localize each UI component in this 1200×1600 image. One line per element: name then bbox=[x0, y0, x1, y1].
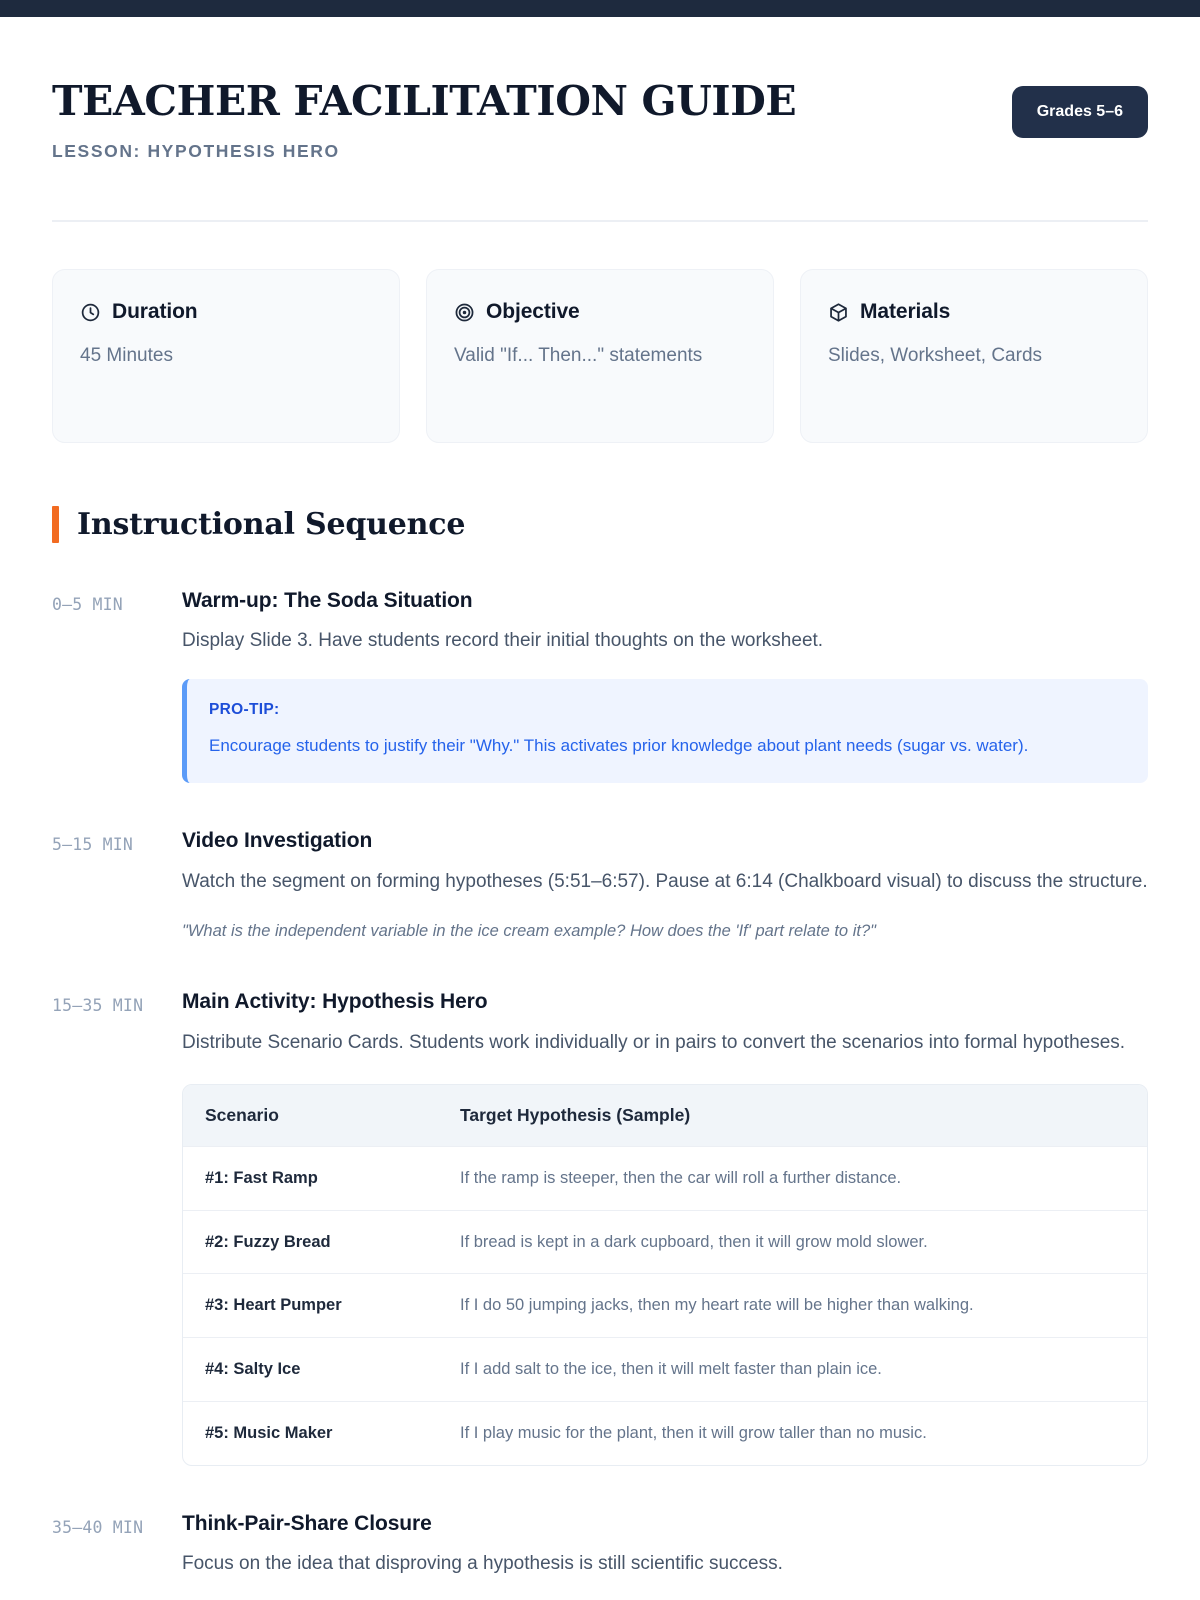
pro-tip-label: PRO-TIP: bbox=[209, 701, 1122, 719]
timeline-title: Think-Pair-Share Closure bbox=[182, 1510, 1148, 1537]
scenario-table: Scenario Target Hypothesis (Sample) #1: … bbox=[183, 1085, 1147, 1465]
info-card-objective-title: Objective bbox=[486, 300, 580, 324]
document-page: TEACHER FACILITATION GUIDE LESSON: HYPOT… bbox=[0, 17, 1200, 1579]
table-row: #2: Fuzzy Bread If bread is kept in a da… bbox=[183, 1210, 1147, 1274]
timeline-time-label: 0–5 MIN bbox=[52, 587, 182, 621]
timeline-description: Watch the segment on forming hypotheses … bbox=[182, 866, 1148, 897]
table-row: #4: Salty Ice If I add salt to the ice, … bbox=[183, 1338, 1147, 1402]
column-header-scenario: Scenario bbox=[183, 1085, 438, 1147]
cell-scenario: #3: Heart Pumper bbox=[183, 1274, 438, 1338]
timeline-time-label: 5–15 MIN bbox=[52, 827, 182, 861]
pro-tip-text: Encourage students to justify their "Why… bbox=[209, 732, 1122, 760]
timeline-item: 15–35 MIN Main Activity: Hypothesis Hero… bbox=[52, 988, 1148, 1465]
timeline-body: Warm-up: The Soda Situation Display Slid… bbox=[182, 587, 1148, 783]
package-icon bbox=[828, 302, 849, 323]
timeline-title: Video Investigation bbox=[182, 827, 1148, 854]
info-card-materials-title: Materials bbox=[860, 300, 950, 324]
page-subtitle: LESSON: HYPOTHESIS HERO bbox=[52, 141, 796, 162]
cell-hypothesis: If bread is kept in a dark cupboard, the… bbox=[438, 1210, 1147, 1274]
table-header-row: Scenario Target Hypothesis (Sample) bbox=[183, 1085, 1147, 1147]
timeline-description: Focus on the idea that disproving a hypo… bbox=[182, 1548, 1148, 1579]
timeline-title: Warm-up: The Soda Situation bbox=[182, 587, 1148, 614]
title-block: TEACHER FACILITATION GUIDE LESSON: HYPOT… bbox=[52, 71, 796, 162]
timeline-description: Distribute Scenario Cards. Students work… bbox=[182, 1027, 1148, 1058]
timeline-discussion-quote: "What is the independent variable in the… bbox=[182, 918, 1148, 944]
scenario-table-container: Scenario Target Hypothesis (Sample) #1: … bbox=[182, 1084, 1148, 1466]
cell-scenario: #4: Salty Ice bbox=[183, 1338, 438, 1402]
document-header: TEACHER FACILITATION GUIDE LESSON: HYPOT… bbox=[52, 17, 1148, 162]
timeline-item: 35–40 MIN Think-Pair-Share Closure Focus… bbox=[52, 1510, 1148, 1580]
cell-hypothesis: If the ramp is steeper, then the car wil… bbox=[438, 1146, 1147, 1210]
info-card-materials-head: Materials bbox=[828, 300, 1120, 324]
info-card-objective-value: Valid "If... Then..." statements bbox=[454, 341, 746, 370]
cell-hypothesis: If I add salt to the ice, then it will m… bbox=[438, 1338, 1147, 1402]
timeline-item: 5–15 MIN Video Investigation Watch the s… bbox=[52, 827, 1148, 944]
cell-hypothesis: If I play music for the plant, then it w… bbox=[438, 1401, 1147, 1464]
info-card-objective-head: Objective bbox=[454, 300, 746, 324]
cell-scenario: #2: Fuzzy Bread bbox=[183, 1210, 438, 1274]
timeline-time-label: 35–40 MIN bbox=[52, 1510, 182, 1544]
instructional-sequence-timeline: 0–5 MIN Warm-up: The Soda Situation Disp… bbox=[52, 587, 1148, 1579]
timeline-item: 0–5 MIN Warm-up: The Soda Situation Disp… bbox=[52, 587, 1148, 783]
header-divider bbox=[52, 220, 1148, 222]
timeline-description: Display Slide 3. Have students record th… bbox=[182, 625, 1148, 656]
cell-hypothesis: If I do 50 jumping jacks, then my heart … bbox=[438, 1274, 1147, 1338]
target-icon bbox=[454, 302, 475, 323]
section-heading: Instructional Sequence bbox=[52, 506, 1148, 543]
cell-scenario: #5: Music Maker bbox=[183, 1401, 438, 1464]
timeline-body: Main Activity: Hypothesis Hero Distribut… bbox=[182, 988, 1148, 1465]
timeline-time-label: 15–35 MIN bbox=[52, 988, 182, 1022]
table-row: #5: Music Maker If I play music for the … bbox=[183, 1401, 1147, 1464]
timeline-body: Video Investigation Watch the segment on… bbox=[182, 827, 1148, 944]
info-card-objective: Objective Valid "If... Then..." statemen… bbox=[426, 269, 774, 443]
grade-badge: Grades 5–6 bbox=[1012, 86, 1148, 138]
info-card-materials-value: Slides, Worksheet, Cards bbox=[828, 341, 1120, 370]
table-row: #1: Fast Ramp If the ramp is steeper, th… bbox=[183, 1146, 1147, 1210]
section-title: Instructional Sequence bbox=[77, 507, 465, 542]
info-cards: Duration 45 Minutes Objective Valid "If.… bbox=[52, 269, 1148, 443]
column-header-hypothesis: Target Hypothesis (Sample) bbox=[438, 1085, 1147, 1147]
timeline-body: Think-Pair-Share Closure Focus on the id… bbox=[182, 1510, 1148, 1580]
scenario-table-head: Scenario Target Hypothesis (Sample) bbox=[183, 1085, 1147, 1147]
timeline-title: Main Activity: Hypothesis Hero bbox=[182, 988, 1148, 1015]
info-card-duration-head: Duration bbox=[80, 300, 372, 324]
table-row: #3: Heart Pumper If I do 50 jumping jack… bbox=[183, 1274, 1147, 1338]
info-card-materials: Materials Slides, Worksheet, Cards bbox=[800, 269, 1148, 443]
page-title: TEACHER FACILITATION GUIDE bbox=[52, 79, 796, 124]
pro-tip-callout: PRO-TIP: Encourage students to justify t… bbox=[182, 679, 1148, 784]
info-card-duration-title: Duration bbox=[112, 300, 198, 324]
info-card-duration-value: 45 Minutes bbox=[80, 341, 372, 370]
top-accent-bar bbox=[0, 0, 1200, 17]
cell-scenario: #1: Fast Ramp bbox=[183, 1146, 438, 1210]
section-accent-bar bbox=[52, 506, 59, 543]
clock-icon bbox=[80, 302, 101, 323]
scenario-table-body: #1: Fast Ramp If the ramp is steeper, th… bbox=[183, 1146, 1147, 1464]
info-card-duration: Duration 45 Minutes bbox=[52, 269, 400, 443]
